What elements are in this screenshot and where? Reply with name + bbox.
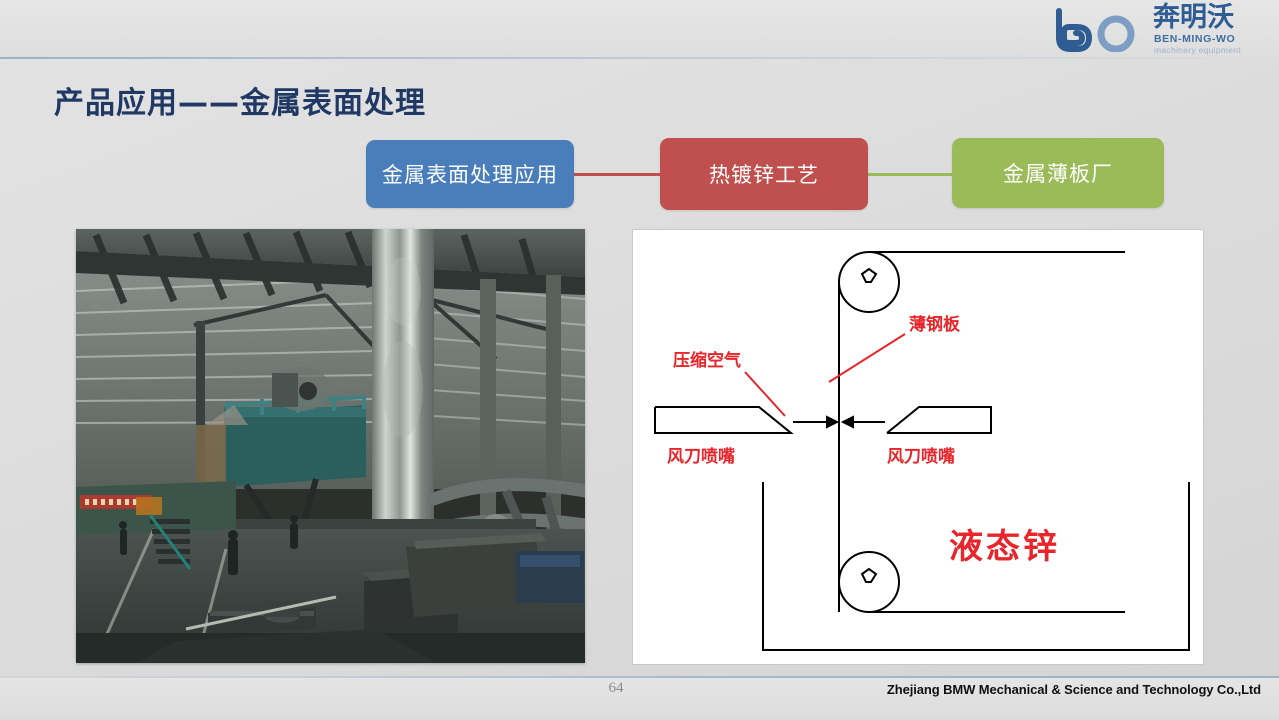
header-divider [0,57,1279,59]
bo-monogram-icon [1053,8,1149,52]
label-air-knife-right: 风刀喷嘴 [887,447,955,467]
logo-wordmark: 奔明沃 BEN-MING-WO machinery equipment [1153,3,1269,55]
label-air-knife-left: 风刀喷嘴 [667,447,735,467]
footer-company-name: Zhejiang BMW Mechanical & Science and Te… [887,682,1261,697]
logo-tagline: machinery equipment [1154,45,1241,55]
flow-connector-1 [574,173,660,176]
company-logo: 奔明沃 BEN-MING-WO machinery equipment [1049,2,1271,56]
label-steel-sheet: 薄钢板 [909,314,961,335]
flow-box-application[interactable]: 金属表面处理应用 [366,140,574,208]
page-number: 64 [596,680,636,697]
flow-box-factory[interactable]: 金属薄板厂 [952,138,1164,208]
logo-name-en: BEN-MING-WO [1154,33,1235,45]
label-compressed-air: 压缩空气 [673,350,741,371]
galvanizing-plant-photo [76,229,585,663]
flow-connector-2 [868,173,952,176]
page-title: 产品应用——金属表面处理 [54,78,426,122]
logo-name-cn: 奔明沃 [1153,3,1234,33]
slide-canvas: 奔明沃 BEN-MING-WO machinery equipment 产品应用… [0,0,1279,720]
galvanizing-process-diagram: 压缩空气 薄钢板 风刀喷嘴 风刀喷嘴 液态锌 [632,229,1204,665]
label-liquid-zinc: 液态锌 [949,527,1060,567]
flow-box-process[interactable]: 热镀锌工艺 [660,138,868,210]
